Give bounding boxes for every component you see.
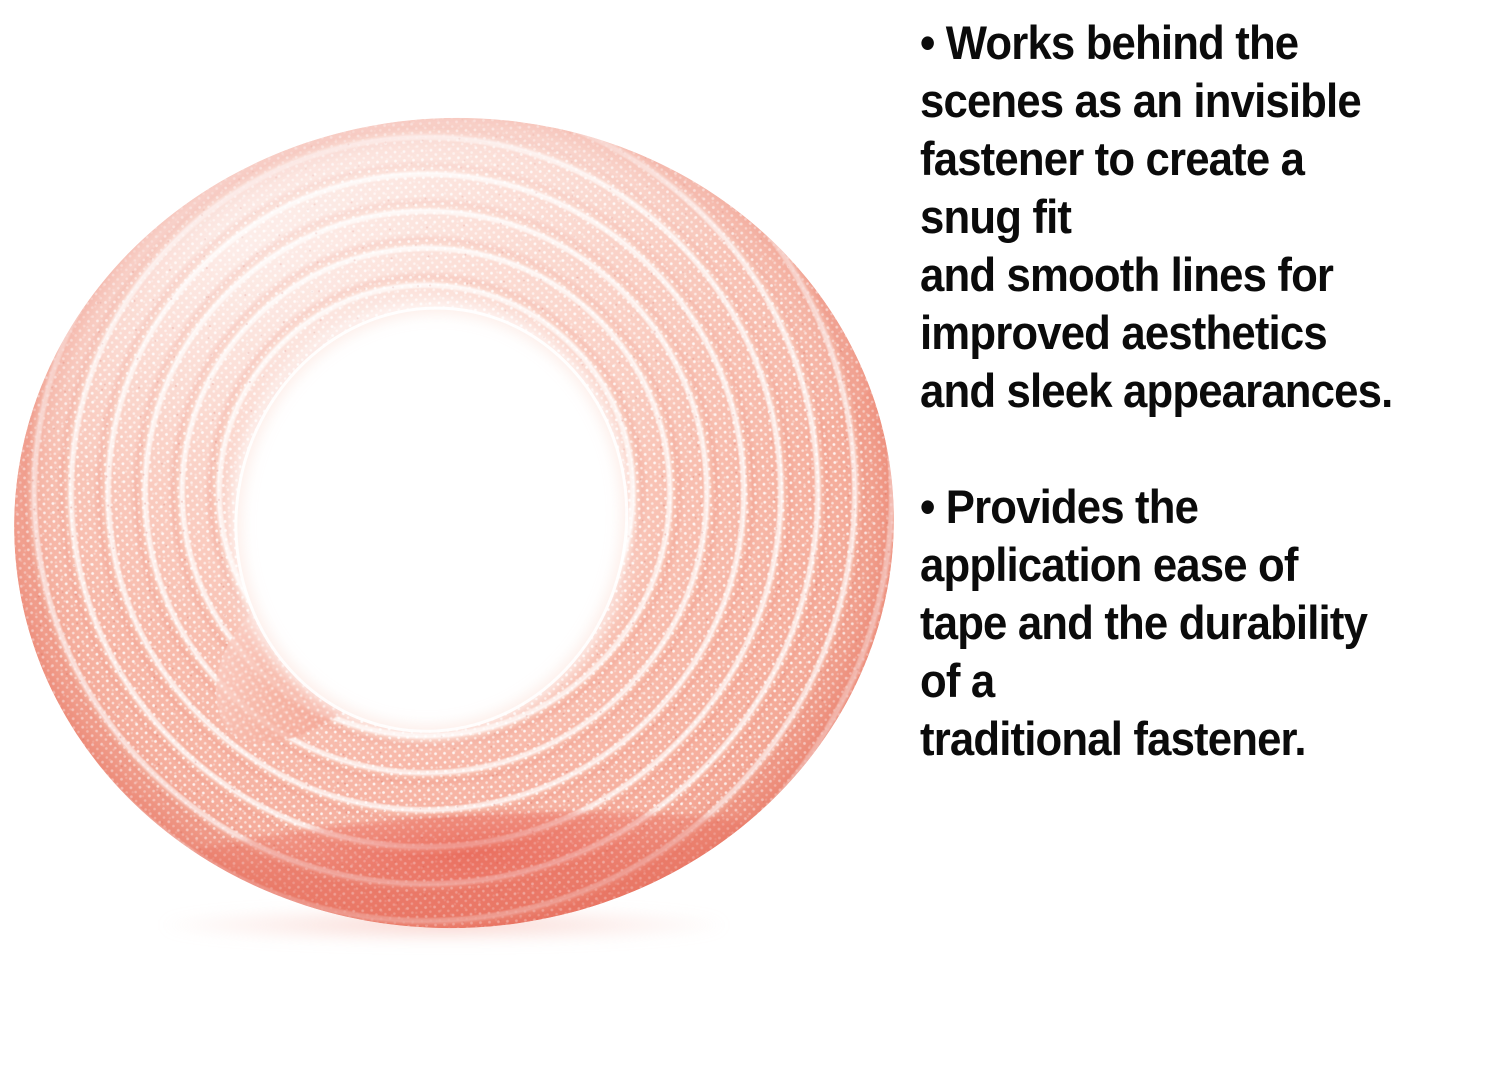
tape-coil bbox=[0, 96, 905, 951]
feature-bullet-2: • Provides the application ease of tape … bbox=[920, 478, 1459, 768]
product-feature-page: • Works behind the scenes as an invisibl… bbox=[0, 0, 1500, 1072]
feature-bullet-1: • Works behind the scenes as an invisibl… bbox=[920, 14, 1459, 420]
product-image-panel bbox=[0, 0, 905, 1072]
tape-roll-image bbox=[14, 118, 894, 948]
feature-text-panel: • Works behind the scenes as an invisibl… bbox=[920, 0, 1500, 1072]
